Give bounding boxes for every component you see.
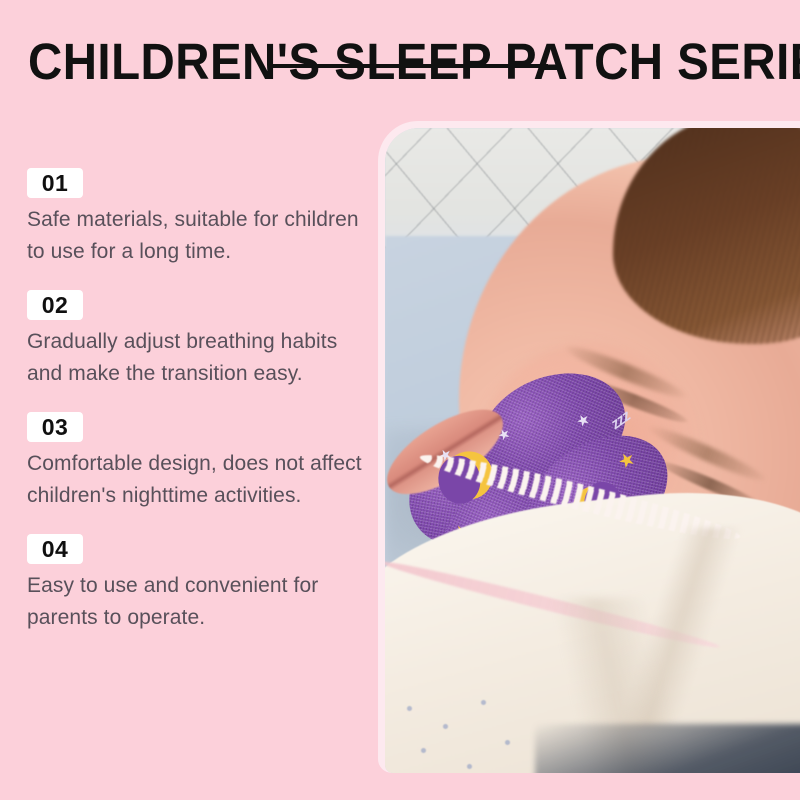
feature-text-02: Gradually adjust breathing habits and ma… [27,326,372,390]
feature-number-badge-02: 02 [27,290,83,320]
feature-number-badge-04: 04 [27,534,83,564]
fabric-dot [407,706,412,711]
page-title: CHILDREN'S SLEEP PATCH SERIES [28,34,772,90]
title-underline-divider [270,64,548,68]
fabric-dot [421,748,426,753]
feature-number-badge-01: 01 [27,168,83,198]
feature-text-04: Easy to use and convenient for parents t… [27,570,372,634]
fabric-dot [481,700,486,705]
feature-list: 01 Safe materials, suitable for children… [27,168,372,656]
product-infographic-poster: CHILDREN'S SLEEP PATCH SERIES 01 Safe ma… [0,0,800,800]
fabric-dot [467,764,472,769]
dark-fabric-shadow [535,724,800,773]
fabric-dot [443,724,448,729]
feature-item-01: 01 Safe materials, suitable for children… [27,168,372,268]
feature-text-01: Safe materials, suitable for children to… [27,204,372,268]
feature-text-03: Comfortable design, does not affect chil… [27,448,372,512]
feature-item-02: 02 Gradually adjust breathing habits and… [27,290,372,390]
feature-item-03: 03 Comfortable design, does not affect c… [27,412,372,512]
feature-item-04: 04 Easy to use and convenient for parent… [27,534,372,634]
title-block: CHILDREN'S SLEEP PATCH SERIES [0,34,800,90]
feature-number-badge-03: 03 [27,412,83,442]
product-photo-sleeping-baby: ★ ★ ★ ★ ★ ★ zzz [385,128,800,773]
fabric-dot [505,740,510,745]
product-photo-frame: ★ ★ ★ ★ ★ ★ zzz [378,121,800,773]
